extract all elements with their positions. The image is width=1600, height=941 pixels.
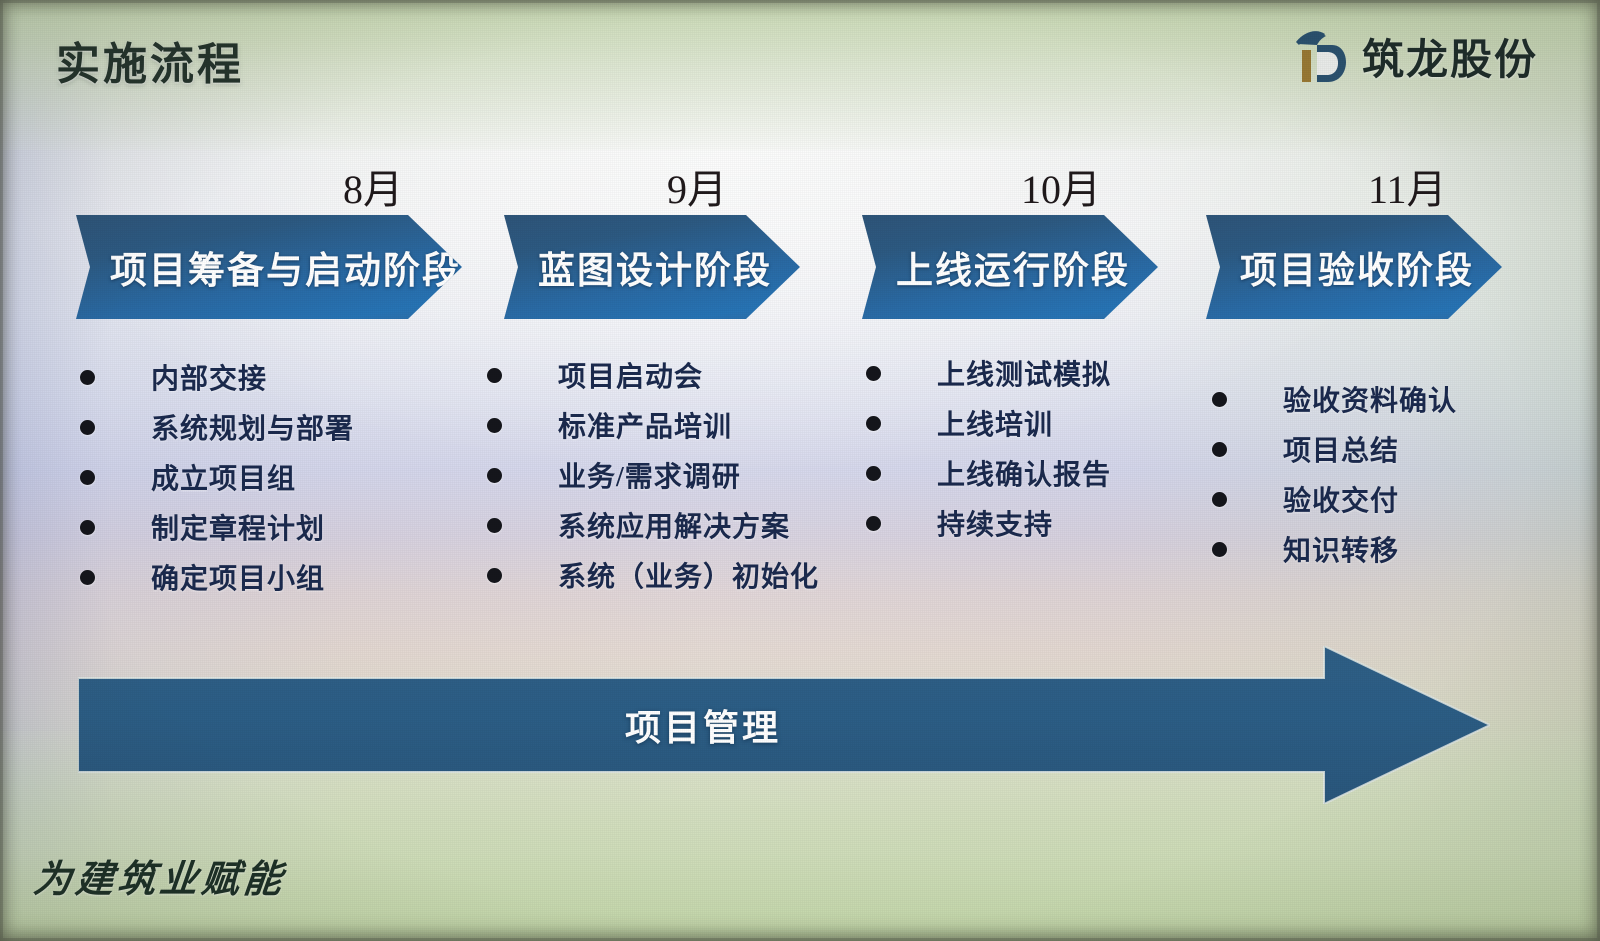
photo-vignette: [0, 0, 1600, 941]
slide-canvas: 实施流程 筑龙股份 8月 9月 10月 11月 项目筹备与启动阶段 蓝图设计阶段…: [0, 0, 1600, 941]
